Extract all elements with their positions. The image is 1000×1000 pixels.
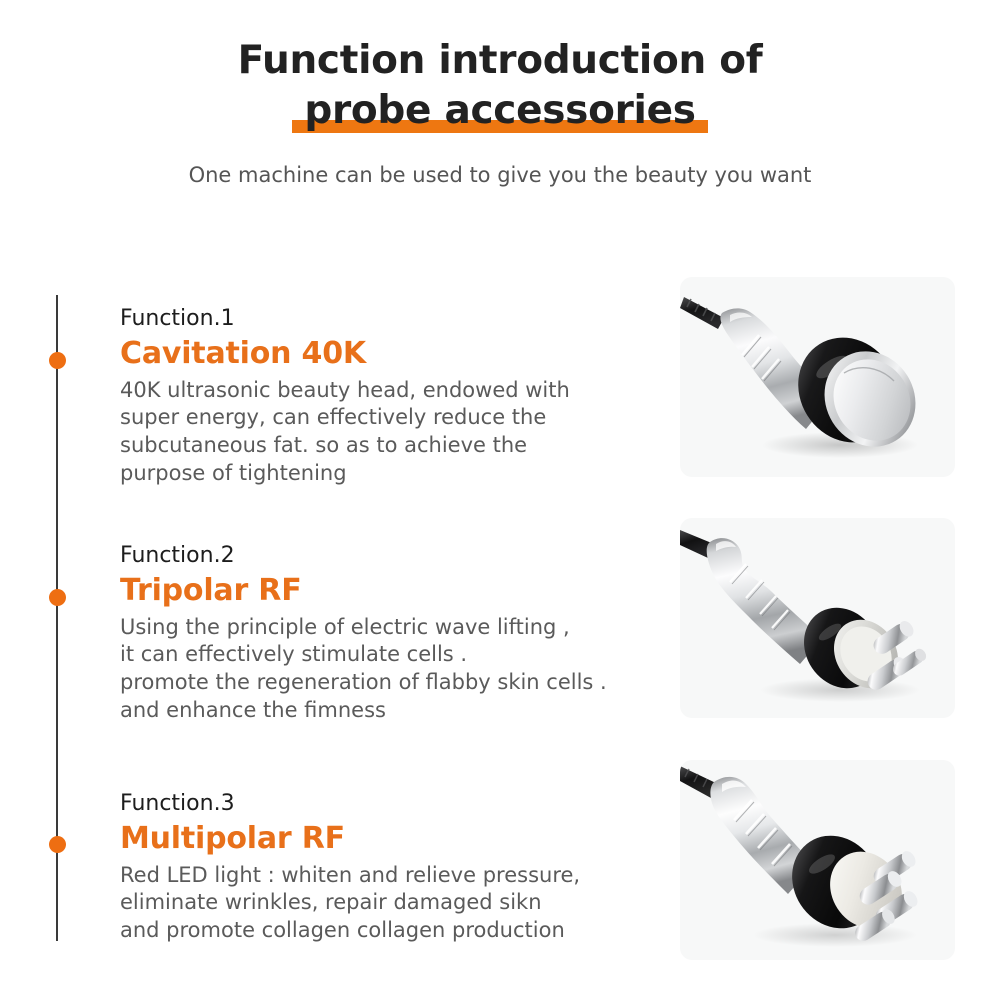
infographic-page: Function introduction of probe accessori… [0, 0, 1000, 1000]
function-block-2: Function.2 Tripolar RF Using the princip… [120, 542, 680, 724]
tripolar-rf-probe-image [680, 518, 955, 718]
probe-cable [680, 297, 724, 329]
timeline-dot-1 [49, 352, 66, 369]
page-header: Function introduction of probe accessori… [0, 36, 1000, 189]
function-2-description: Using the principle of electric wave lif… [120, 614, 680, 725]
page-title-line-1: Function introduction of [0, 36, 1000, 86]
page-title-line-2: probe accessories [304, 86, 695, 136]
product-image-card-2 [680, 518, 955, 718]
page-title-line-2-text: probe accessories [304, 88, 695, 133]
cavitation-40k-probe-image [680, 277, 955, 477]
multipolar-rf-probe-image [680, 760, 955, 960]
product-image-card-3 [680, 760, 955, 960]
product-image-card-1 [680, 277, 955, 477]
timeline-dot-2 [49, 589, 66, 606]
function-2-title: Tripolar RF [120, 573, 680, 609]
function-2-kicker: Function.2 [120, 542, 680, 570]
function-3-description: Red LED light : whiten and relieve press… [120, 862, 680, 945]
page-subtitle: One machine can be used to give you the … [0, 162, 1000, 189]
function-1-title: Cavitation 40K [120, 336, 680, 372]
function-3-title: Multipolar RF [120, 821, 680, 857]
function-block-1: Function.1 Cavitation 40K 40K ultrasonic… [120, 305, 680, 487]
function-3-kicker: Function.3 [120, 790, 680, 818]
timeline-dot-3 [49, 836, 66, 853]
function-block-3: Function.3 Multipolar RF Red LED light :… [120, 790, 680, 945]
function-1-kicker: Function.1 [120, 305, 680, 333]
function-1-description: 40K ultrasonic beauty head, endowed with… [120, 377, 680, 488]
